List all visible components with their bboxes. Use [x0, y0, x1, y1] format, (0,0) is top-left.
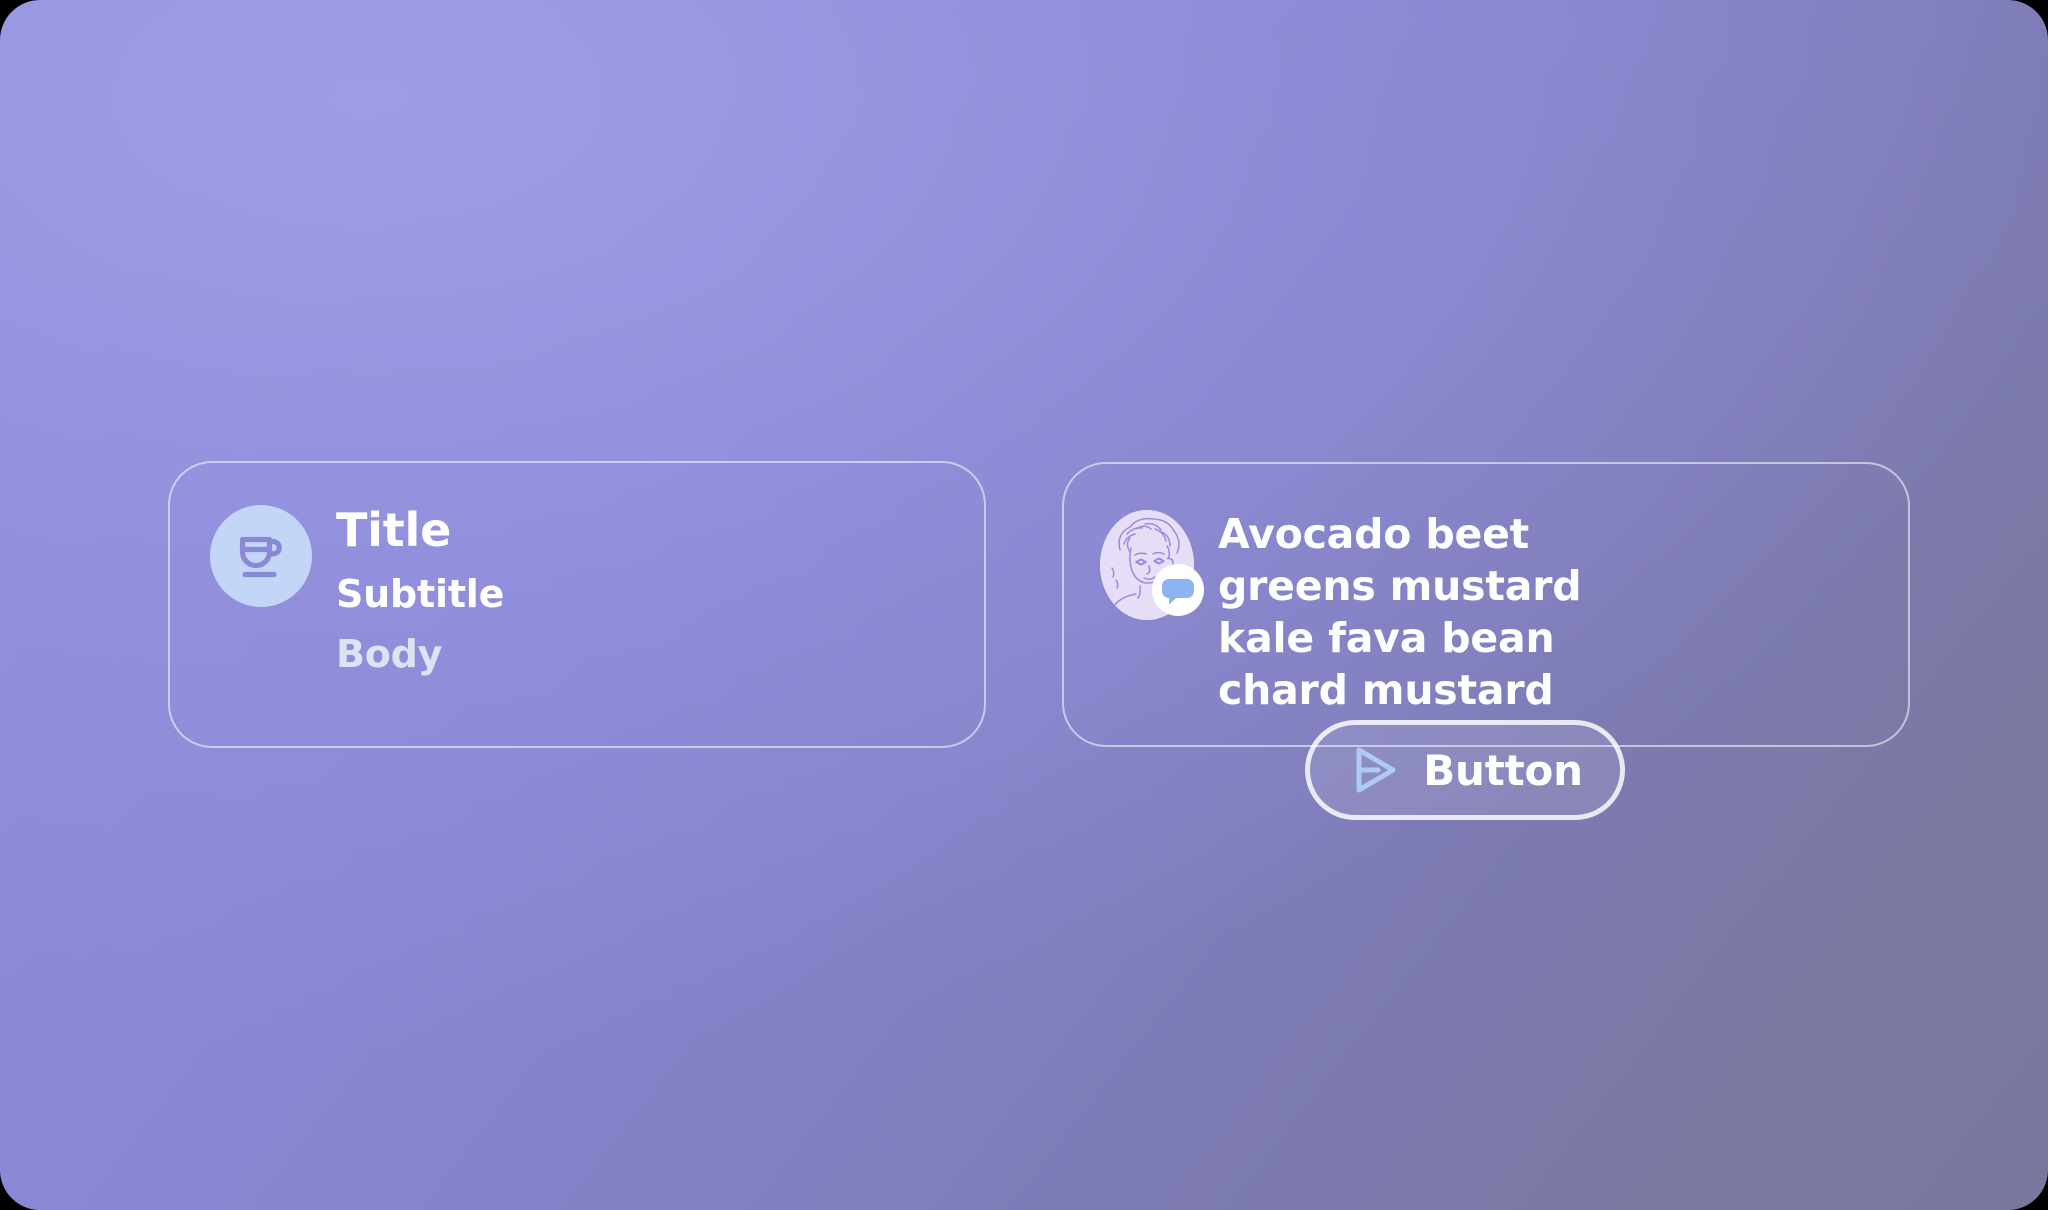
avatar: [1100, 508, 1194, 620]
send-button-label: Button: [1423, 746, 1583, 795]
left-card-content: Title Subtitle Body: [170, 463, 984, 746]
card-subtitle: Subtitle: [336, 573, 504, 616]
send-paper-plane-icon: [1347, 743, 1401, 797]
card-body: Body: [336, 633, 504, 676]
card-title: Title: [336, 505, 504, 557]
left-card-text-block: Title Subtitle Body: [336, 505, 504, 676]
app-canvas: Title Subtitle Body: [0, 0, 2048, 1210]
coffee-cup-icon: [210, 505, 312, 607]
right-card-content: Avocado beet greens mustard kale fava be…: [1064, 464, 1908, 745]
send-button[interactable]: Button: [1305, 720, 1625, 820]
chat-bubble-icon: [1152, 564, 1204, 616]
info-card-left[interactable]: Title Subtitle Body: [168, 461, 986, 748]
info-card-right[interactable]: Avocado beet greens mustard kale fava be…: [1062, 462, 1910, 747]
right-card-text: Avocado beet greens mustard kale fava be…: [1218, 508, 1688, 716]
